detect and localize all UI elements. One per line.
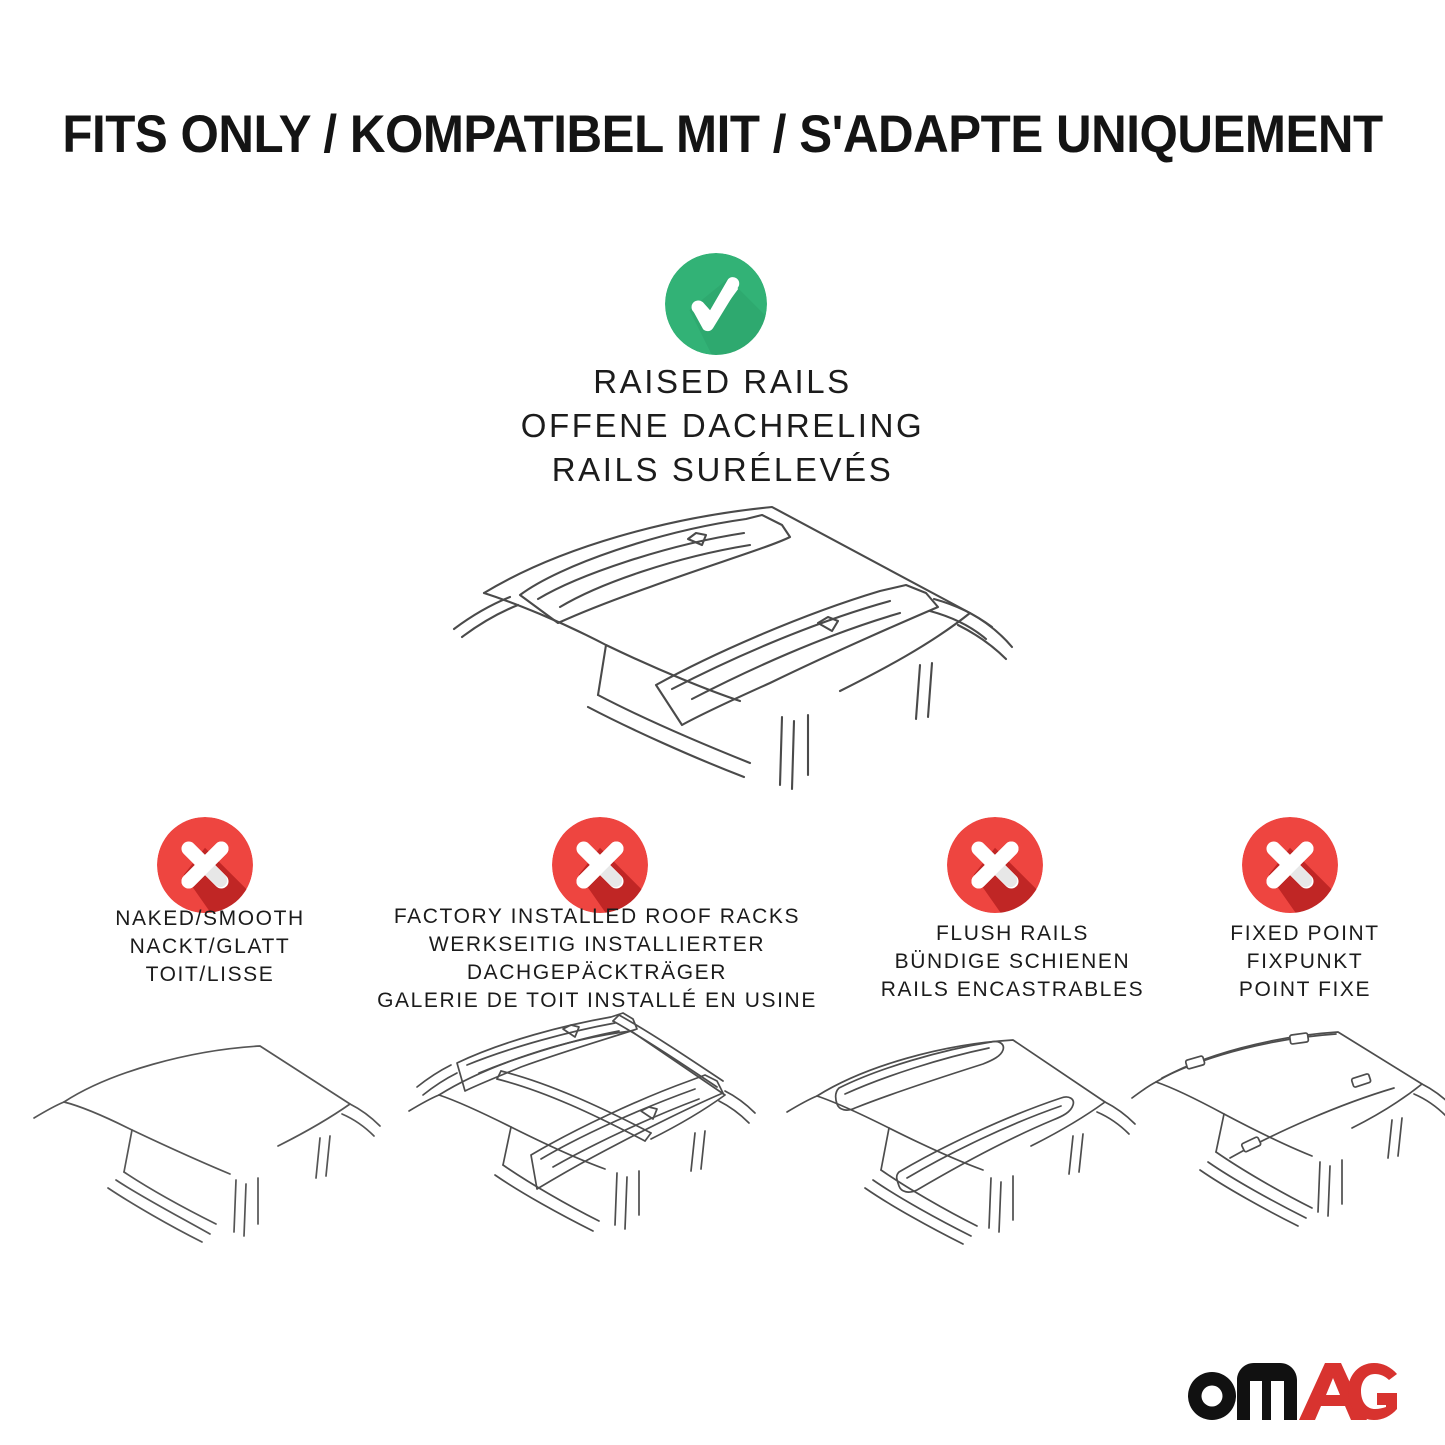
- naked-smooth-roof-illustration: [20, 1020, 390, 1260]
- raised-rails-roof-illustration: [410, 495, 1030, 795]
- caption-line: NACKT/GLATT: [40, 933, 380, 961]
- caption-line: FLUSH RAILS: [840, 920, 1185, 948]
- compatible-line-1: RAISED RAILS: [322, 360, 1123, 404]
- incompatible-caption-naked-smooth: NAKED/SMOOTH NACKT/GLATT TOIT/LISSE: [40, 905, 380, 989]
- caption-line: POINT FIXE: [1160, 976, 1445, 1004]
- caption-line: FIXED POINT: [1160, 920, 1445, 948]
- red-x-icon-factory-racks: [552, 817, 648, 913]
- compatibility-infographic: FITS ONLY / KOMPATIBEL MIT / S'ADAPTE UN…: [0, 0, 1445, 1445]
- red-x-icon-fixed-point: [1242, 817, 1338, 913]
- fixed-point-roof-illustration: [1130, 1020, 1445, 1260]
- caption-line: FACTORY INSTALLED ROOF RACKS: [352, 903, 842, 931]
- caption-line: NAKED/SMOOTH: [40, 905, 380, 933]
- compatible-caption: RAISED RAILS OFFENE DACHRELING RAILS SUR…: [322, 360, 1123, 492]
- caption-line: DACHGEPÄCKTRÄGER: [352, 959, 842, 987]
- flush-rails-roof-illustration: [775, 1020, 1145, 1260]
- compatible-line-2: OFFENE DACHRELING: [322, 404, 1123, 448]
- caption-line: TOIT/LISSE: [40, 961, 380, 989]
- caption-line: BÜNDIGE SCHIENEN: [840, 948, 1185, 976]
- red-x-icon-naked-smooth: [157, 817, 253, 913]
- red-x-icon-flush-rails: [947, 817, 1043, 913]
- page-title: FITS ONLY / KOMPATIBEL MIT / S'ADAPTE UN…: [51, 104, 1395, 165]
- incompatible-caption-fixed-point: FIXED POINT FIXPUNKT POINT FIXE: [1160, 920, 1445, 1004]
- caption-line: RAILS ENCASTRABLES: [840, 976, 1185, 1004]
- caption-line: WERKSEITIG INSTALLIERTER: [352, 931, 842, 959]
- compatible-line-3: RAILS SURÉLEVÉS: [322, 448, 1123, 492]
- incompatible-caption-flush-rails: FLUSH RAILS BÜNDIGE SCHIENEN RAILS ENCAS…: [840, 920, 1185, 1004]
- green-check-icon: [665, 253, 767, 355]
- caption-line: FIXPUNKT: [1160, 948, 1445, 976]
- factory-roof-rack-illustration: [395, 1005, 765, 1260]
- omac-logo: [1181, 1359, 1399, 1425]
- incompatible-caption-factory-racks: FACTORY INSTALLED ROOF RACKS WERKSEITIG …: [352, 903, 842, 1015]
